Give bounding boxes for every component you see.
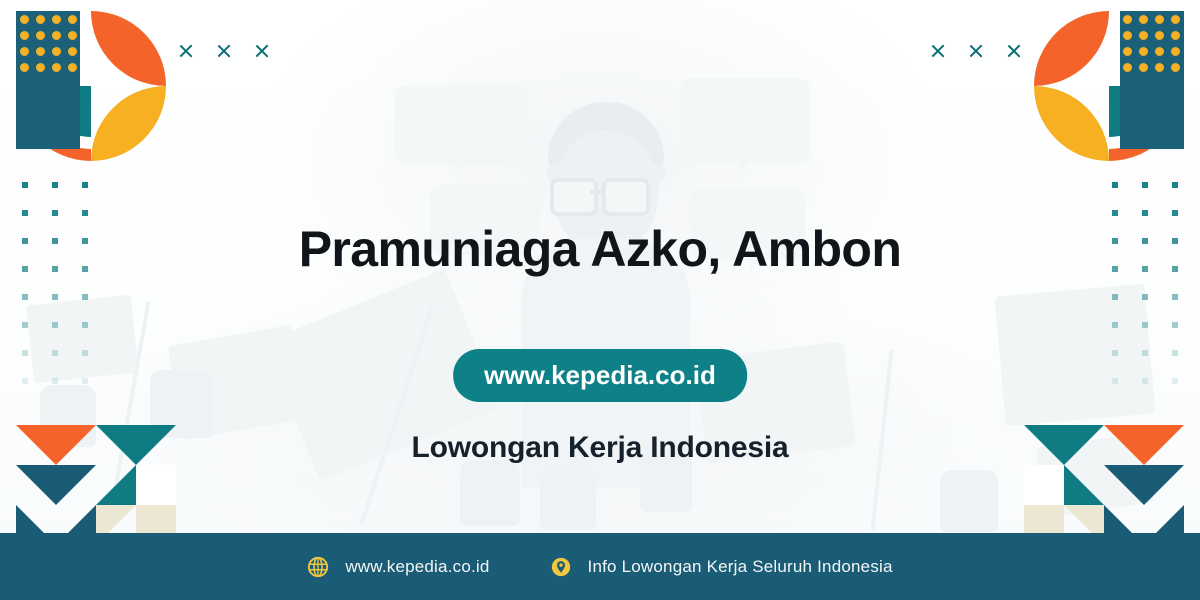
dot: [22, 350, 28, 356]
dot: [68, 47, 77, 56]
dotted-square-navy: [16, 11, 80, 75]
dot: [36, 63, 45, 72]
dot: [1156, 47, 1165, 56]
glasses-watermark: [550, 178, 598, 216]
x-marks-right: [930, 43, 1022, 59]
website-badge[interactable]: www.kepedia.co.id: [453, 349, 747, 402]
dot: [36, 47, 45, 56]
dot: [22, 378, 28, 384]
corner-decoration-top-left: [16, 11, 166, 161]
glasses-watermark: [602, 178, 650, 216]
dot: [1112, 294, 1118, 300]
dot: [1140, 47, 1149, 56]
corner-decoration-top-right: [1034, 11, 1184, 161]
dot: [1112, 322, 1118, 328]
dot: [82, 182, 88, 188]
triangle-cell: [1064, 465, 1104, 505]
triangle-cell: [1144, 465, 1184, 505]
x-mark-icon: [1006, 43, 1022, 59]
fist-watermark: [940, 470, 998, 532]
dot: [22, 294, 28, 300]
petal-orange: [1034, 11, 1109, 86]
dot: [52, 15, 61, 24]
dot: [52, 294, 58, 300]
dot-grid-left: [22, 182, 88, 384]
footer-item-info[interactable]: Info Lowongan Kerja Seluruh Indonesia: [550, 556, 893, 578]
fist-watermark: [460, 460, 520, 526]
dot: [1124, 15, 1133, 24]
dot: [68, 15, 77, 24]
navy-block: [1120, 75, 1184, 149]
petal-yellow: [91, 86, 166, 161]
poster-subtitle: Lowongan Kerja Indonesia: [0, 431, 1200, 465]
dotted-square-navy: [1120, 11, 1184, 75]
dot: [82, 210, 88, 216]
footer-website-label: www.kepedia.co.id: [345, 557, 489, 577]
dot: [1142, 210, 1148, 216]
dot: [52, 63, 61, 72]
dot: [1140, 15, 1149, 24]
dot: [1124, 63, 1133, 72]
x-mark-icon: [254, 43, 270, 59]
fist-watermark: [540, 470, 596, 530]
triangle-cell: [136, 465, 176, 505]
triangle-cell: [1024, 465, 1064, 505]
x-mark-icon: [930, 43, 946, 59]
footer-item-website[interactable]: www.kepedia.co.id: [307, 556, 489, 578]
dot: [1172, 31, 1181, 40]
dot: [1172, 47, 1181, 56]
dot: [1142, 378, 1148, 384]
footer-info-label: Info Lowongan Kerja Seluruh Indonesia: [588, 557, 893, 577]
dot: [1172, 63, 1181, 72]
petal-yellow: [1034, 86, 1109, 161]
dot: [1172, 210, 1178, 216]
dot: [22, 322, 28, 328]
petal-orange: [91, 11, 166, 86]
dot: [20, 63, 29, 72]
dot: [1172, 322, 1178, 328]
triangle-cell: [16, 465, 56, 505]
dot: [68, 31, 77, 40]
dot: [52, 182, 58, 188]
dot: [1156, 15, 1165, 24]
dot-grid-right: [1112, 182, 1178, 384]
triangle-cell: [1104, 465, 1144, 505]
dot: [1142, 182, 1148, 188]
dot: [1124, 31, 1133, 40]
navy-block: [16, 75, 80, 149]
dot: [52, 210, 58, 216]
dot: [36, 31, 45, 40]
dot: [82, 322, 88, 328]
job-poster: Pramuniaga Azko, Ambon www.kepedia.co.id…: [0, 0, 1200, 600]
footer-bar: www.kepedia.co.id Info Lowongan Kerja Se…: [0, 533, 1200, 600]
dot: [82, 294, 88, 300]
dot: [68, 63, 77, 72]
dot: [1112, 182, 1118, 188]
x-mark-icon: [178, 43, 194, 59]
globe-icon: [307, 556, 329, 578]
dot: [1112, 210, 1118, 216]
dot: [1124, 47, 1133, 56]
x-marks-left: [178, 43, 270, 59]
speech-bubble-watermark: [680, 78, 810, 163]
dot: [20, 47, 29, 56]
page-title: Pramuniaga Azko, Ambon: [0, 222, 1200, 277]
dot: [1140, 31, 1149, 40]
dot: [1172, 378, 1178, 384]
speech-bubble-watermark: [395, 85, 530, 165]
dot: [1172, 294, 1178, 300]
dot: [52, 31, 61, 40]
dot: [52, 322, 58, 328]
dot: [1140, 63, 1149, 72]
x-mark-icon: [968, 43, 984, 59]
triangle-cell: [56, 465, 96, 505]
dot: [1142, 350, 1148, 356]
dot: [82, 378, 88, 384]
dot: [1172, 15, 1181, 24]
dot: [1142, 322, 1148, 328]
dot: [1156, 63, 1165, 72]
dot: [52, 350, 58, 356]
triangle-cell: [96, 465, 136, 505]
glasses-bridge-watermark: [590, 190, 604, 194]
dot: [1112, 350, 1118, 356]
dot: [1156, 31, 1165, 40]
dot: [82, 350, 88, 356]
dot: [52, 47, 61, 56]
dot: [1172, 182, 1178, 188]
dot: [22, 182, 28, 188]
dot: [52, 378, 58, 384]
dot: [1112, 378, 1118, 384]
x-mark-icon: [216, 43, 232, 59]
dot: [20, 31, 29, 40]
location-pin-icon: [550, 556, 572, 578]
dot: [22, 210, 28, 216]
dot: [20, 15, 29, 24]
dot: [1172, 350, 1178, 356]
dot: [36, 15, 45, 24]
dot: [1142, 294, 1148, 300]
